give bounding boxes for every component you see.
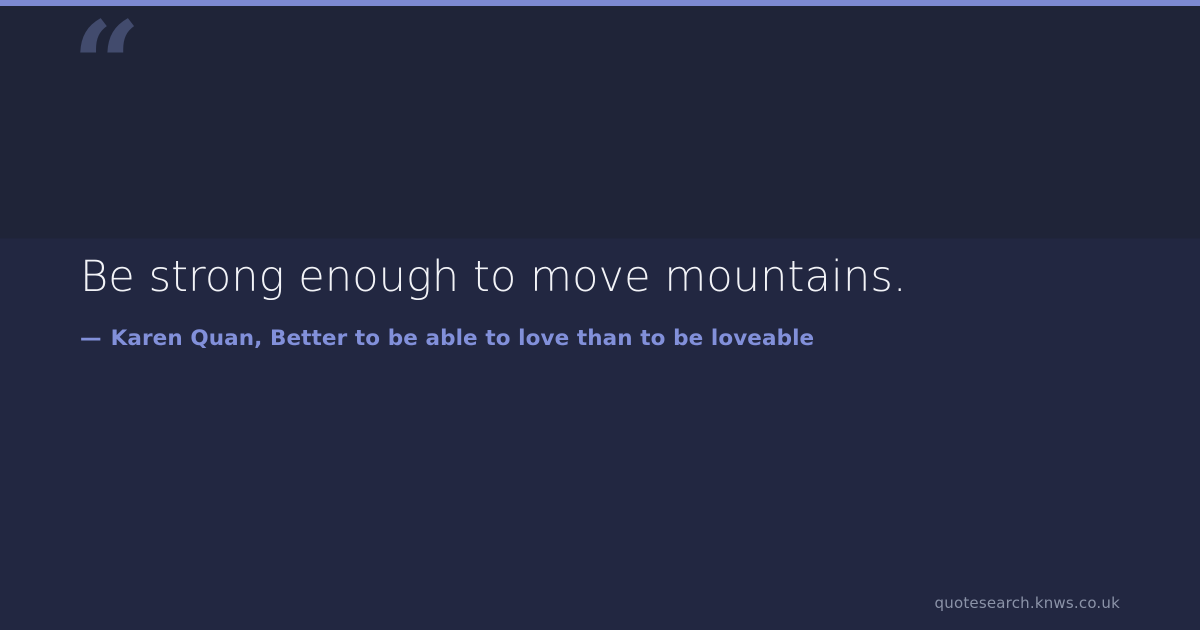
quote-text: Be strong enough to move mountains.	[80, 252, 1120, 303]
em-dash: —	[80, 325, 102, 353]
quote-card: “ Be strong enough to move mountains. —K…	[0, 0, 1200, 630]
footer-site-watermark: quotesearch.knws.co.uk	[935, 594, 1120, 612]
quote-content: Be strong enough to move mountains. —Kar…	[80, 252, 1120, 353]
opening-quote-icon: “	[72, 6, 139, 126]
attribution-text: Karen Quan, Better to be able to love th…	[111, 326, 815, 351]
quote-attribution: —Karen Quan, Better to be able to love t…	[80, 325, 1120, 353]
top-accent-bar	[0, 0, 1200, 6]
